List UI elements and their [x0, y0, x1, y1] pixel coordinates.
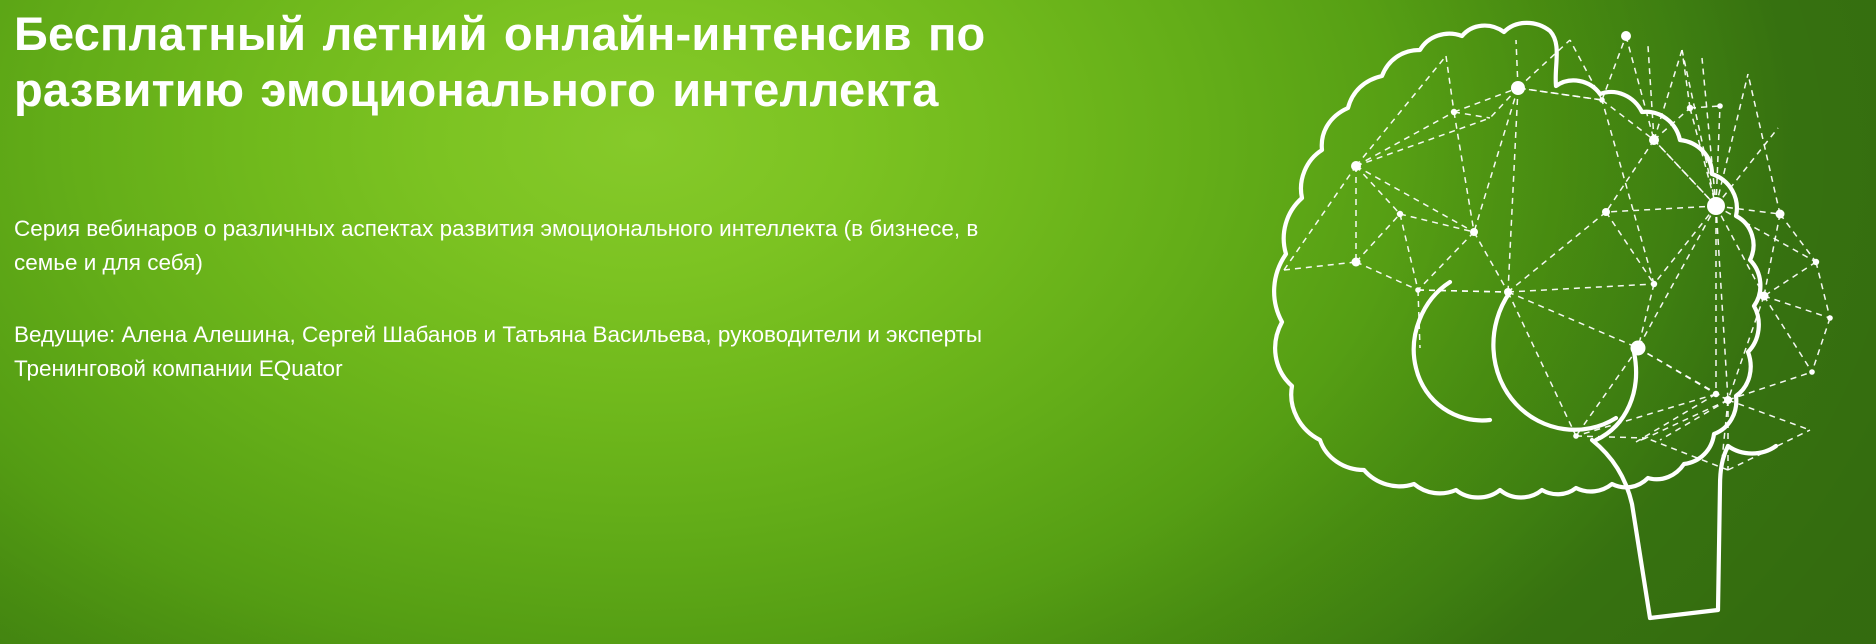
brain-outline — [1274, 23, 1776, 618]
brain-network-edges — [1284, 36, 1830, 480]
banner-headline: Бесплатный летний онлайн-интенсив по раз… — [14, 6, 1094, 118]
banner-presenters: Ведущие: Алена Алешина, Сергей Шабанов и… — [14, 318, 1026, 386]
banner-text-column: Бесплатный летний онлайн-интенсив по раз… — [14, 0, 1104, 644]
promo-banner: Бесплатный летний онлайн-интенсив по раз… — [0, 0, 1876, 644]
banner-description: Серия вебинаров о различных аспектах раз… — [14, 212, 1026, 280]
brain-icon — [1250, 0, 1870, 644]
brain-network-nodes — [1351, 31, 1833, 439]
brain-network-illustration — [1250, 0, 1870, 644]
